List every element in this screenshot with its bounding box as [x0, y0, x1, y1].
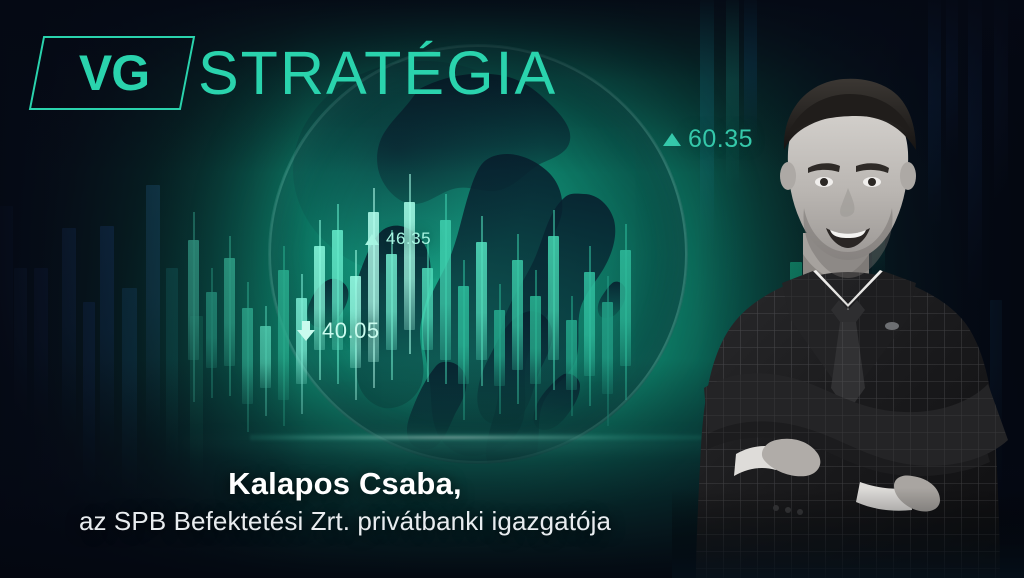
speaker-name: Kalapos Csaba, [0, 466, 690, 502]
caption-block: Kalapos Csaba, az SPB Befektetési Zrt. p… [0, 466, 690, 537]
logo-wordmark: STRATÉGIA [198, 43, 557, 104]
arrow-down-icon [297, 321, 315, 341]
brand-logo[interactable]: VG STRATÉGIA [36, 36, 557, 110]
person-illustration [672, 58, 1024, 578]
triangle-up-icon [365, 234, 379, 245]
portrait-photo [672, 58, 1024, 578]
speaker-title: az SPB Befektetési Zrt. privátbanki igaz… [0, 506, 690, 537]
ticker-value: 40.05 [322, 318, 380, 344]
ticker-value: 46.35 [386, 229, 431, 249]
ticker-label-up-4635: 46.35 [365, 229, 431, 249]
promo-banner: 60.35 46.35 40.05 VG STRATÉGIA [0, 0, 1024, 578]
logo-badge: VG [36, 36, 188, 110]
ticker-label-down-4005: 40.05 [297, 318, 380, 344]
logo-vg-text: VG [36, 36, 188, 110]
